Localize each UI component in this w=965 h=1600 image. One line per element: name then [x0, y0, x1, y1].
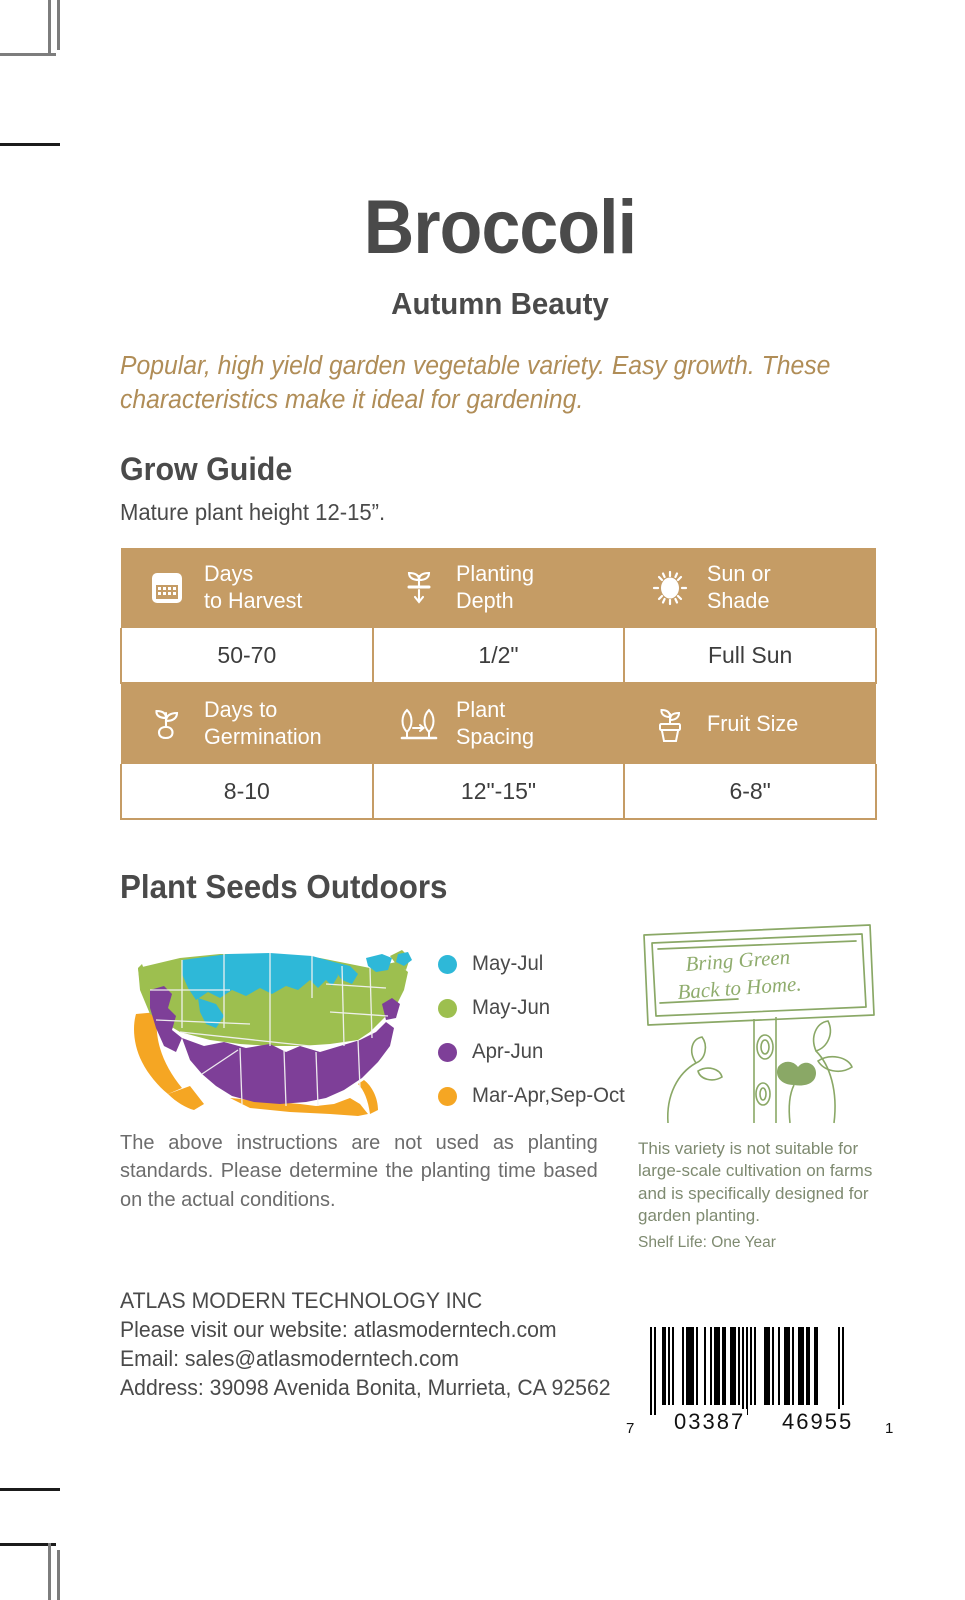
grow-guide-table: Days to Harvest — [120, 548, 877, 820]
badge-block: Bring Green Back to Home. — [638, 1129, 888, 1252]
table-value-row: 50-70 1/2" Full Sun — [121, 628, 876, 683]
usa-planting-map — [120, 928, 420, 1123]
svg-text:Bring Green: Bring Green — [685, 945, 791, 976]
bring-green-sign: Bring Green Back to Home. — [638, 919, 888, 1134]
legend-label: May-Jul — [472, 952, 543, 976]
crop-mark-bottom-left-vertical — [48, 1543, 51, 1600]
header-cell-plant-spacing: Plant Spacing — [373, 683, 625, 764]
seed-packet-page: Broccoli Autumn Beauty Popular, high yie… — [0, 0, 965, 1600]
barcode-left-digit: 7 — [626, 1420, 634, 1437]
value-plant-spacing: 12"-15" — [373, 764, 625, 819]
legend-color-dot — [438, 1043, 457, 1062]
header-label: Plant Spacing — [456, 697, 534, 750]
header-cell-fruit-size: Fruit Size — [624, 683, 876, 764]
grow-guide-heading: Grow Guide — [120, 452, 842, 487]
crop-mark-top-left-horizontal — [0, 53, 56, 56]
header-cell-days-to-germination: Days to Germination — [121, 683, 373, 764]
mature-height-text: Mature plant height 12-15”. — [120, 499, 850, 526]
legend-label: Mar-Apr,Sep-Oct — [472, 1084, 625, 1108]
product-tagline: Popular, high yield garden vegetable var… — [120, 349, 857, 418]
barcode-right-digit: 1 — [885, 1420, 893, 1437]
header-cell-days-to-harvest: Days to Harvest — [121, 548, 373, 628]
plant-seeds-outdoors-heading: Plant Seeds Outdoors — [120, 868, 842, 906]
legend-label: Apr-Jun — [472, 1040, 543, 1064]
value-sun-or-shade: Full Sun — [624, 628, 876, 683]
crop-mark-top-left-vertical — [48, 0, 51, 56]
crop-mark-bottom-second-vertical — [57, 1550, 60, 1600]
sprouting-seed-icon — [143, 701, 191, 747]
barcode-group-2: 46955 — [780, 1409, 855, 1435]
variety-name: Autumn Beauty — [139, 288, 861, 319]
planting-disclaimer: The above instructions are not used as p… — [120, 1129, 598, 1214]
header-cell-sun-or-shade: Sun or Shade — [624, 548, 876, 628]
variety-note: This variety is not suitable for large-s… — [638, 1138, 883, 1228]
potted-plant-icon — [646, 701, 694, 747]
company-name: ATLAS MODERN TECHNOLOGY INC — [120, 1286, 853, 1315]
shelf-life-text: Shelf Life: One Year — [638, 1234, 888, 1252]
page-title: Broccoli — [150, 190, 849, 266]
sun-icon — [646, 565, 694, 611]
disclaimer-row: The above instructions are not used as p… — [120, 1129, 880, 1252]
value-fruit-size: 6-8" — [624, 764, 876, 819]
header-label: Days to Harvest — [204, 561, 302, 614]
disclaimer-block: The above instructions are not used as p… — [120, 1129, 610, 1252]
crop-mark-left-lower — [0, 1488, 60, 1491]
crop-mark-left-upper — [0, 143, 60, 146]
barcode-bars — [650, 1327, 844, 1415]
value-days-to-germination: 8-10 — [121, 764, 373, 819]
header-label: Days to Germination — [204, 697, 322, 750]
value-planting-depth: 1/2" — [373, 628, 625, 683]
crop-mark-top-second-vertical — [57, 0, 60, 50]
value-days-to-harvest: 50-70 — [121, 628, 373, 683]
svg-text:Back to Home.: Back to Home. — [677, 971, 803, 1004]
legend-color-dot — [438, 1087, 457, 1106]
header-label: Planting Depth — [456, 561, 534, 614]
table-value-row: 8-10 12"-15" 6-8" — [121, 764, 876, 819]
seedling-depth-icon — [395, 565, 443, 611]
barcode: 7 03387 46955 1 — [620, 1327, 910, 1437]
packet-content: Broccoli Autumn Beauty Popular, high yie… — [120, 190, 880, 1402]
legend-color-dot — [438, 999, 457, 1018]
table-header-row: Days to Harvest — [121, 548, 876, 628]
header-cell-planting-depth: Planting Depth — [373, 548, 625, 628]
header-label: Sun or Shade — [707, 561, 771, 614]
header-label: Fruit Size — [707, 711, 798, 738]
legend-color-dot — [438, 955, 457, 974]
calendar-icon — [143, 565, 191, 611]
legend-label: May-Jun — [472, 996, 550, 1020]
barcode-group-1: 03387 — [672, 1409, 747, 1435]
plant-spacing-icon — [395, 701, 443, 747]
table-header-row: Days to Germination — [121, 683, 876, 764]
